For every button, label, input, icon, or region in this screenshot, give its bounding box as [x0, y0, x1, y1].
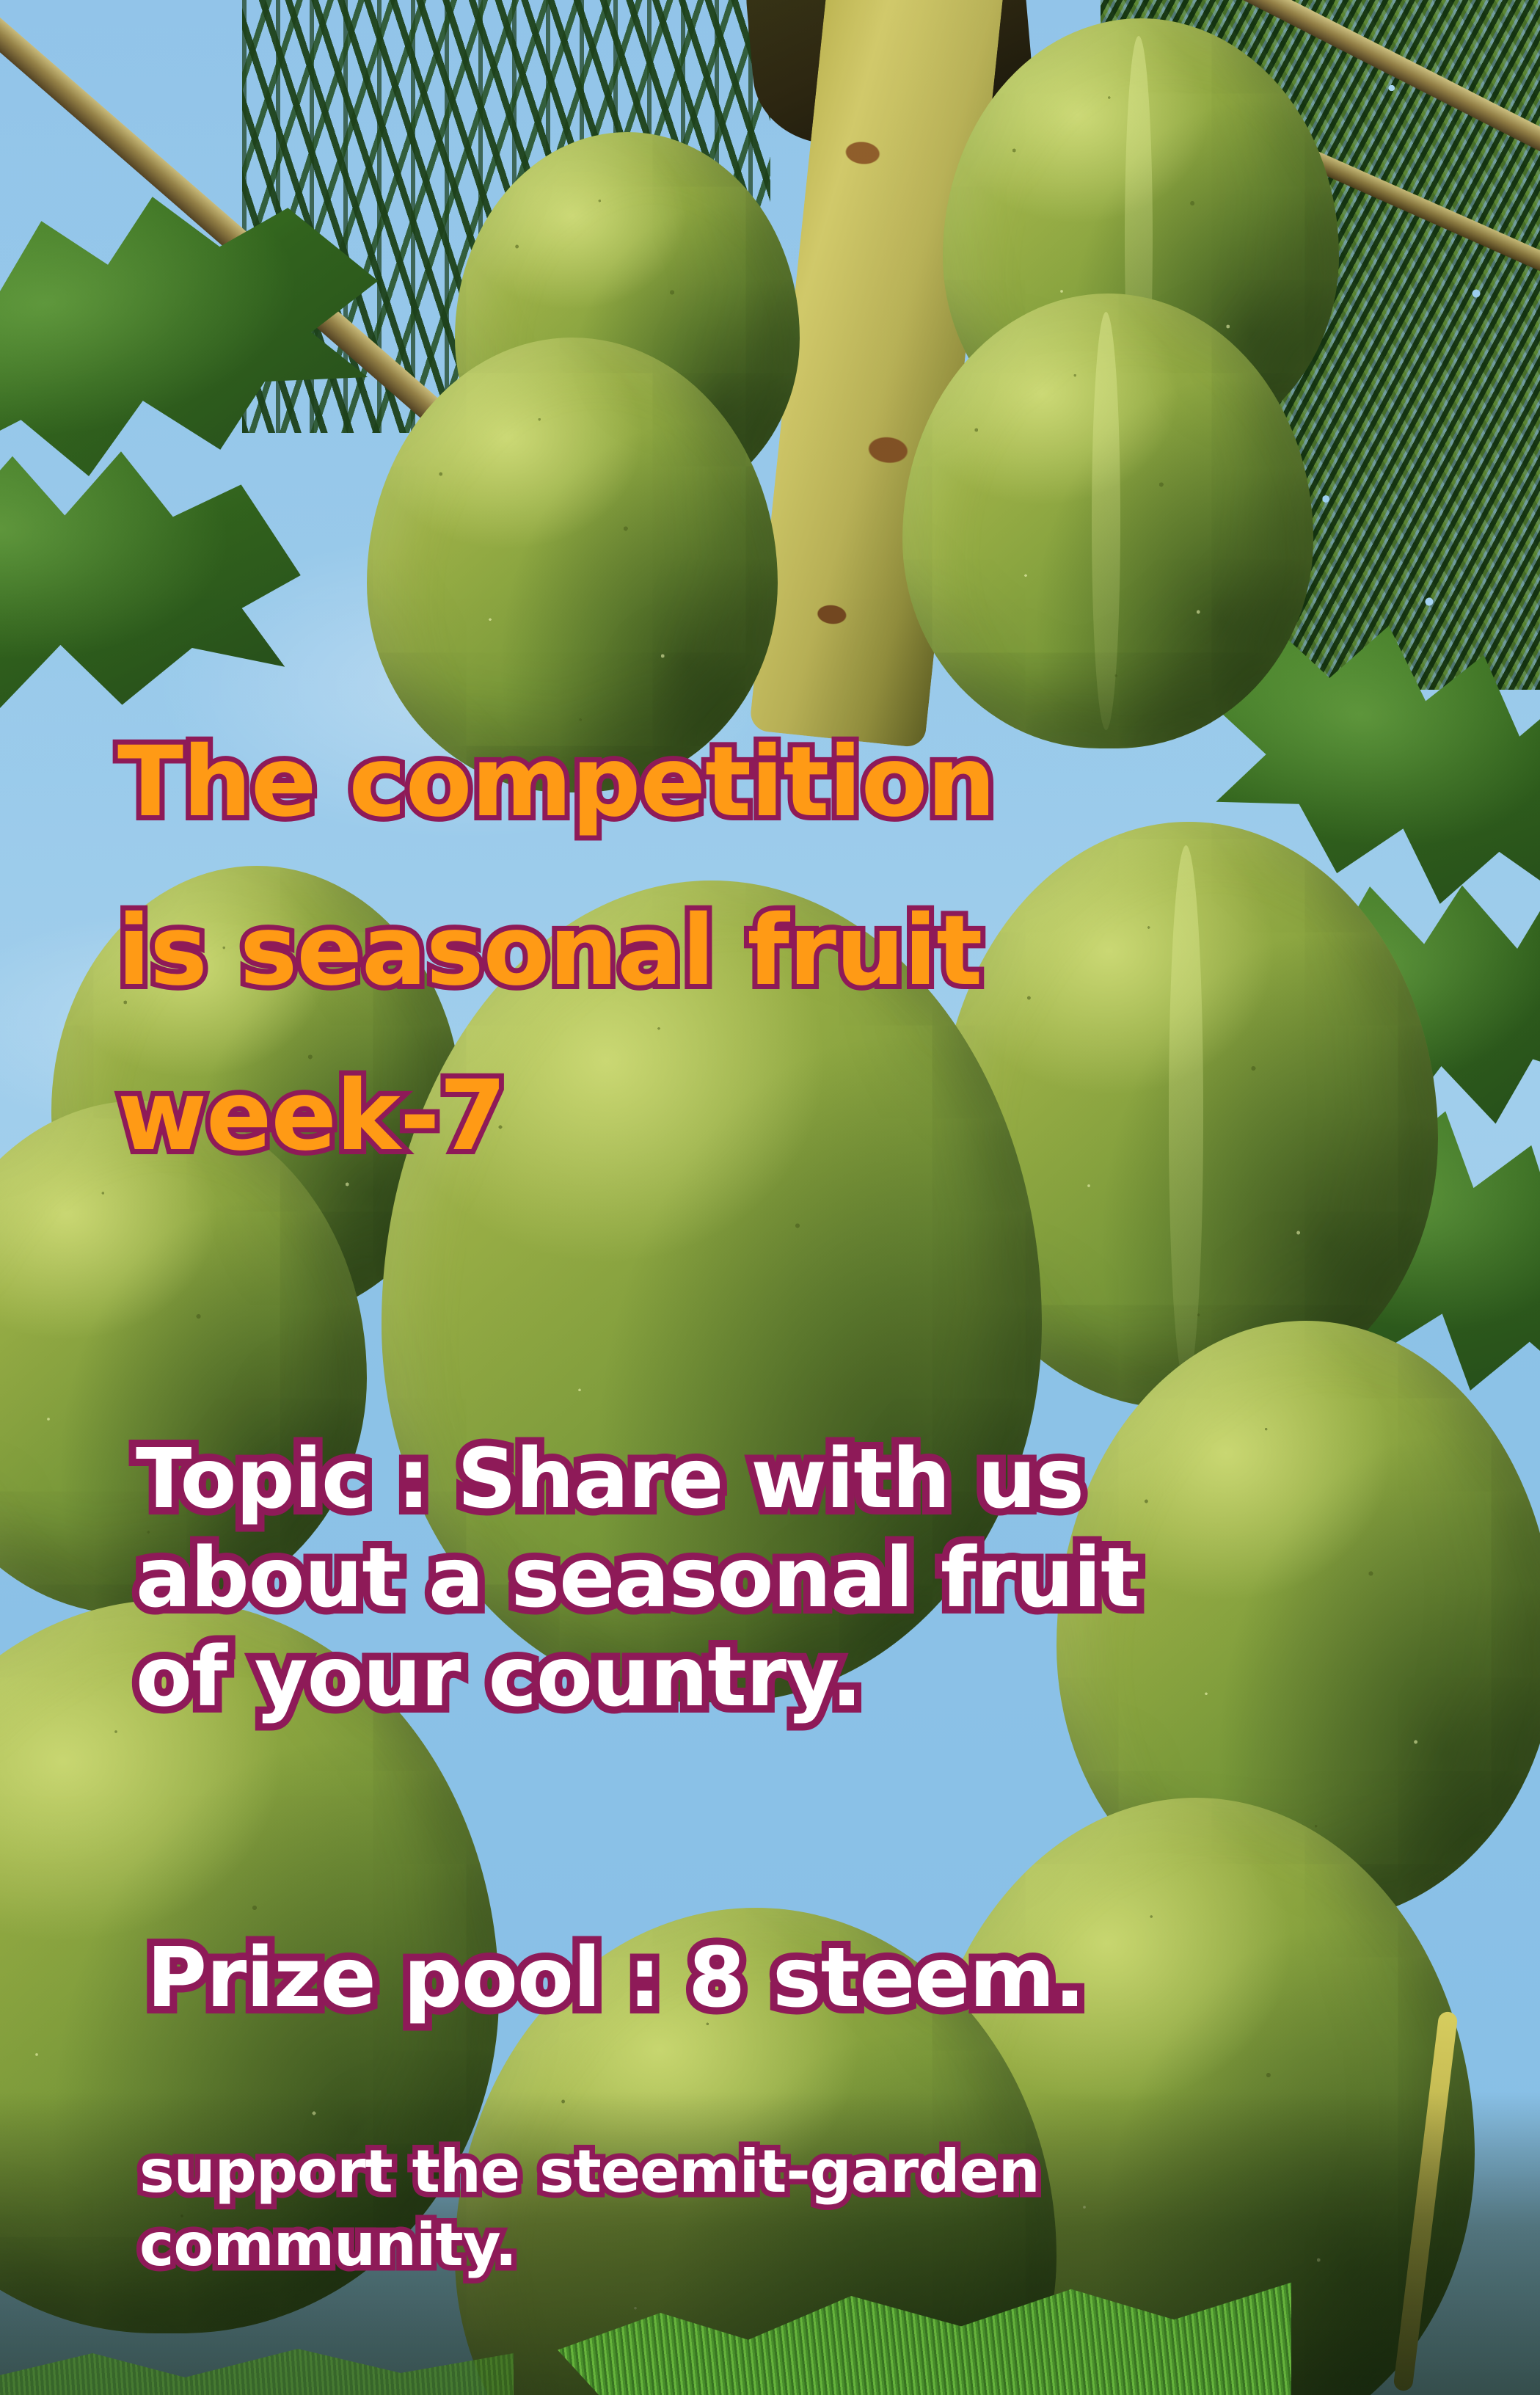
text-overlay: The competition is seasonal fruit week-7… — [0, 0, 1540, 2395]
headline-line-2: is seasonal fruit — [117, 903, 982, 999]
topic-line-2: about a seasonal fruit — [136, 1537, 1139, 1619]
prize-pool-text: Prize pool : 8 steem. — [147, 1937, 1084, 2019]
support-line-1: support the steemit-garden — [139, 2143, 1040, 2201]
topic-line-3: of your country. — [136, 1636, 861, 1718]
topic-line-1: Topic : Share with us — [136, 1438, 1084, 1520]
headline-line-1: The competition — [117, 734, 995, 831]
poster-canvas: The competition is seasonal fruit week-7… — [0, 0, 1540, 2395]
support-line-2: community. — [139, 2216, 517, 2275]
headline-line-3: week-7 — [117, 1068, 506, 1164]
